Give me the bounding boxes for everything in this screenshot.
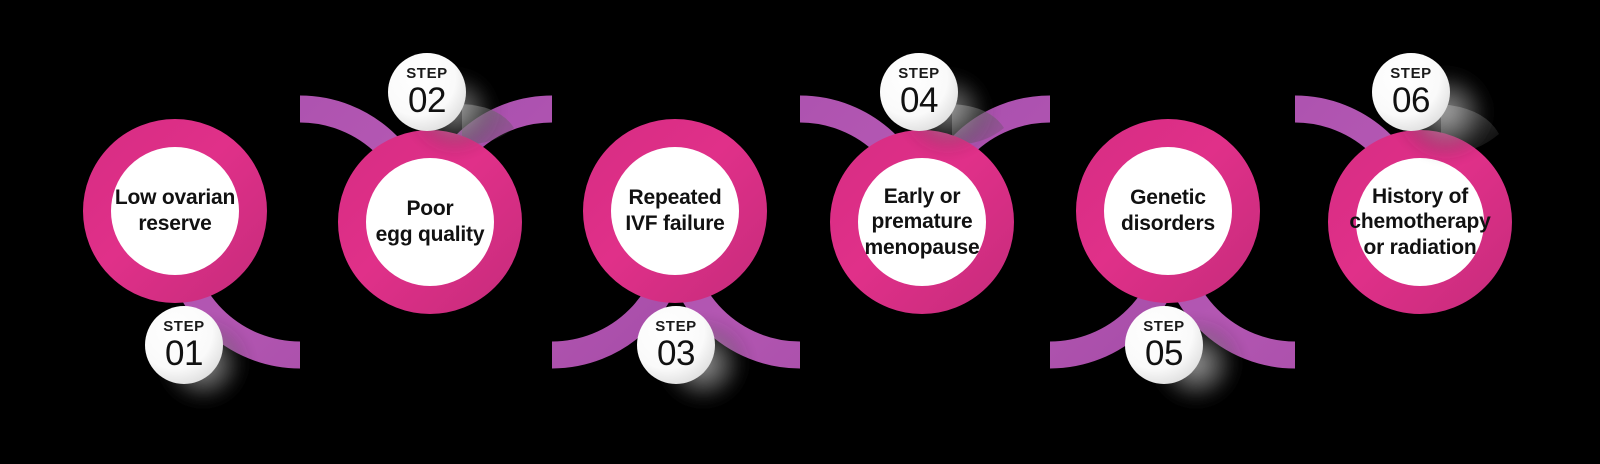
step-badge-circle-1[interactable] [145,306,223,384]
step-badge-circle-3[interactable] [637,306,715,384]
node-ring-4[interactable] [844,144,1000,300]
step-badge-circle-4[interactable] [880,53,958,131]
step-badge-circle-2[interactable] [388,53,466,131]
process-chain-graphic [0,0,1600,464]
node-ring-1[interactable] [97,133,253,289]
node-ring-3[interactable] [597,133,753,289]
infographic-canvas: Low ovarian reserve Poor egg quality Rep… [0,0,1600,464]
node-ring-5[interactable] [1090,133,1246,289]
node-ring-6[interactable] [1342,144,1498,300]
step-badge-circle-6[interactable] [1372,53,1450,131]
step-badge-circle-5[interactable] [1125,306,1203,384]
node-ring-2[interactable] [352,144,508,300]
